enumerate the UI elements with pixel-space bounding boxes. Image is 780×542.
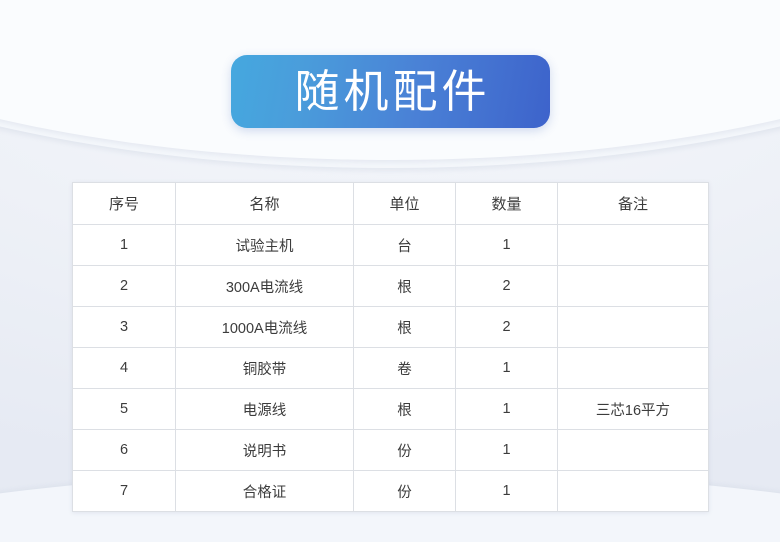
accessories-table: 序号 名称 单位 数量 备注 1 试验主机 台 1 2 300A电流线	[72, 182, 709, 512]
cell-qty: 2	[456, 266, 558, 307]
cell-unit: 根	[354, 389, 456, 430]
cell-name: 300A电流线	[176, 266, 354, 307]
column-header-qty: 数量	[456, 183, 558, 225]
table-row: 5 电源线 根 1 三芯16平方	[73, 389, 709, 430]
table-row: 2 300A电流线 根 2	[73, 266, 709, 307]
cell-name: 1000A电流线	[176, 307, 354, 348]
cell-index: 3	[73, 307, 176, 348]
cell-remark	[558, 307, 709, 348]
cell-qty: 1	[456, 471, 558, 512]
cell-remark	[558, 348, 709, 389]
page-title-badge: 随机配件	[231, 55, 550, 128]
cell-index: 2	[73, 266, 176, 307]
column-header-index: 序号	[73, 183, 176, 225]
cell-unit: 根	[354, 307, 456, 348]
cell-name: 试验主机	[176, 225, 354, 266]
cell-qty: 1	[456, 225, 558, 266]
cell-qty: 1	[456, 430, 558, 471]
column-header-unit: 单位	[354, 183, 456, 225]
cell-remark	[558, 430, 709, 471]
cell-remark	[558, 266, 709, 307]
table-header: 序号 名称 单位 数量 备注	[73, 183, 709, 225]
cell-qty: 1	[456, 389, 558, 430]
column-header-remark: 备注	[558, 183, 709, 225]
cell-unit: 根	[354, 266, 456, 307]
cell-remark	[558, 471, 709, 512]
cell-name: 合格证	[176, 471, 354, 512]
cell-index: 1	[73, 225, 176, 266]
cell-index: 4	[73, 348, 176, 389]
cell-unit: 卷	[354, 348, 456, 389]
page-title: 随机配件	[290, 69, 490, 114]
table-row: 6 说明书 份 1	[73, 430, 709, 471]
cell-index: 6	[73, 430, 176, 471]
cell-name: 说明书	[176, 430, 354, 471]
cell-name: 电源线	[176, 389, 354, 430]
cell-remark	[558, 225, 709, 266]
accessories-table-container: 序号 名称 单位 数量 备注 1 试验主机 台 1 2 300A电流线	[72, 182, 708, 512]
cell-unit: 份	[354, 471, 456, 512]
table-row: 7 合格证 份 1	[73, 471, 709, 512]
table-row: 1 试验主机 台 1	[73, 225, 709, 266]
column-header-name: 名称	[176, 183, 354, 225]
cell-index: 7	[73, 471, 176, 512]
cell-qty: 1	[456, 348, 558, 389]
cell-name: 铜胶带	[176, 348, 354, 389]
table-header-row: 序号 名称 单位 数量 备注	[73, 183, 709, 225]
page-root: 随机配件 序号 名称 单位 数量 备注 1	[0, 0, 780, 542]
table-row: 3 1000A电流线 根 2	[73, 307, 709, 348]
cell-unit: 台	[354, 225, 456, 266]
cell-index: 5	[73, 389, 176, 430]
table-row: 4 铜胶带 卷 1	[73, 348, 709, 389]
table-body: 1 试验主机 台 1 2 300A电流线 根 2 3 1000A电流线 根	[73, 225, 709, 512]
cell-qty: 2	[456, 307, 558, 348]
cell-unit: 份	[354, 430, 456, 471]
cell-remark: 三芯16平方	[558, 389, 709, 430]
